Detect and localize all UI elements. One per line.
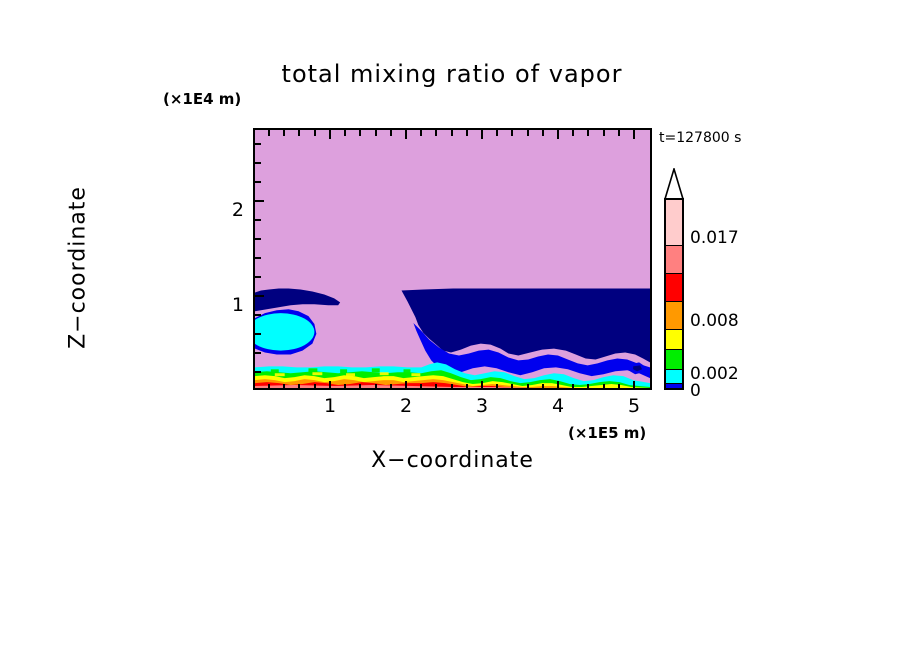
y-tick-minor	[255, 333, 261, 335]
x-tick-minor	[496, 384, 498, 390]
colorbar-band	[666, 350, 682, 370]
x-tick-top-major	[329, 130, 331, 139]
colorbar-arrow-icon	[664, 168, 684, 200]
y-tick-minor	[255, 371, 261, 373]
x-tick-label-1: 1	[310, 395, 350, 417]
x-tick-top-minor	[314, 130, 316, 136]
y-tick-minor	[255, 162, 261, 164]
x-tick-minor	[283, 384, 285, 390]
x-tick-minor	[298, 384, 300, 390]
y-axis-units-label: (×1E4 m)	[163, 90, 241, 108]
x-tick-top-minor	[344, 130, 346, 136]
x-tick-minor	[618, 384, 620, 390]
x-tick-minor	[466, 384, 468, 390]
x-tick-minor	[511, 384, 513, 390]
x-tick-minor	[268, 384, 270, 390]
x-tick-minor	[420, 384, 422, 390]
x-tick-top-minor	[511, 130, 513, 136]
x-tick-major-3	[481, 381, 483, 390]
colorbar-band	[666, 200, 682, 246]
x-tick-top-minor	[375, 130, 377, 136]
x-tick-minor	[451, 384, 453, 390]
y-tick-major-1	[255, 295, 264, 297]
colorbar-band	[666, 302, 682, 330]
colorbar-band	[666, 246, 682, 274]
x-tick-major-2	[405, 381, 407, 390]
x-tick-top-minor	[451, 130, 453, 136]
y-tick-minor	[255, 314, 261, 316]
y-tick-minor	[255, 352, 261, 354]
x-tick-top-minor	[435, 130, 437, 136]
colorbar	[664, 168, 684, 390]
figure-canvas: total mixing ratio of vapor (×1E4 m) t=1…	[0, 0, 904, 654]
x-tick-major-1	[329, 381, 331, 390]
x-tick-top-minor	[527, 130, 529, 136]
y-tick-minor	[255, 238, 261, 240]
x-tick-top-minor	[420, 130, 422, 136]
x-tick-top-minor	[359, 130, 361, 136]
y-tick-minor	[255, 257, 261, 259]
y-tick-minor	[255, 143, 261, 145]
x-tick-top-minor	[618, 130, 620, 136]
x-tick-top-minor	[572, 130, 574, 136]
x-tick-minor	[435, 384, 437, 390]
x-tick-minor	[375, 384, 377, 390]
x-tick-minor	[527, 384, 529, 390]
x-tick-top-minor	[587, 130, 589, 136]
colorbar-band	[666, 330, 682, 350]
time-annotation: t=127800 s	[659, 130, 741, 146]
x-tick-label-3: 3	[462, 395, 502, 417]
contour-field	[255, 130, 650, 388]
x-tick-top-minor	[603, 130, 605, 136]
colorbar-band	[666, 384, 682, 390]
y-tick-minor	[255, 181, 261, 183]
x-tick-top-major	[633, 130, 635, 139]
y-tick-major-2	[255, 200, 264, 202]
colorbar-band	[666, 274, 682, 302]
x-tick-top-major	[405, 130, 407, 139]
x-tick-top-major	[557, 130, 559, 139]
x-tick-minor	[314, 384, 316, 390]
x-tick-label-5: 5	[614, 395, 654, 417]
colorbar-band	[666, 370, 682, 384]
colorbar-label-0008: 0.008	[690, 311, 739, 331]
x-tick-minor	[359, 384, 361, 390]
colorbar-bands	[664, 198, 684, 390]
x-tick-label-4: 4	[538, 395, 578, 417]
x-tick-top-minor	[542, 130, 544, 136]
x-tick-minor	[587, 384, 589, 390]
x-tick-top-minor	[268, 130, 270, 136]
colorbar-label-0: 0	[690, 381, 701, 401]
x-tick-minor	[603, 384, 605, 390]
x-tick-top-minor	[466, 130, 468, 136]
x-tick-major-5	[633, 381, 635, 390]
y-tick-label-1: 1	[204, 294, 244, 316]
y-axis-label: Z−coordinate	[66, 118, 91, 418]
y-tick-minor	[255, 219, 261, 221]
x-tick-top-minor	[390, 130, 392, 136]
colorbar-label-0017: 0.017	[690, 228, 739, 248]
plot-area	[253, 128, 652, 390]
x-tick-label-2: 2	[386, 395, 426, 417]
x-axis-label: X−coordinate	[253, 448, 652, 473]
y-tick-minor	[255, 276, 261, 278]
page-title: total mixing ratio of vapor	[0, 60, 904, 88]
x-tick-major-4	[557, 381, 559, 390]
x-tick-top-minor	[298, 130, 300, 136]
x-axis-units-label: (×1E5 m)	[568, 424, 646, 442]
x-tick-minor	[572, 384, 574, 390]
x-tick-top-major	[481, 130, 483, 139]
x-tick-top-minor	[496, 130, 498, 136]
x-tick-top-minor	[283, 130, 285, 136]
y-tick-label-2: 2	[204, 199, 244, 221]
x-tick-minor	[344, 384, 346, 390]
x-tick-minor	[390, 384, 392, 390]
x-tick-minor	[542, 384, 544, 390]
